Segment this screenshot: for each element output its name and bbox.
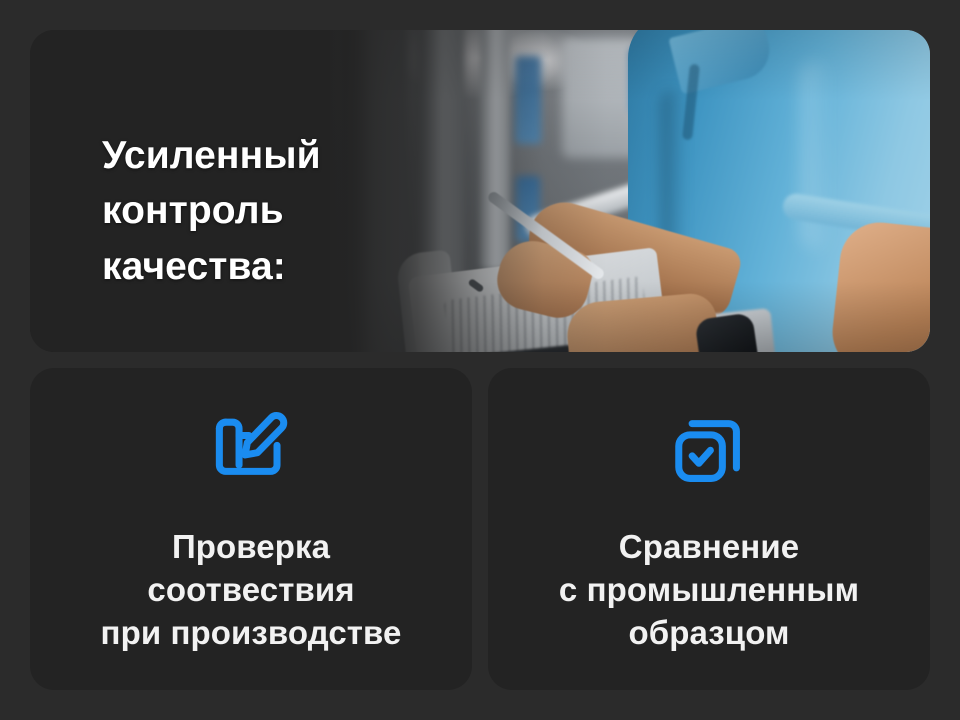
feature-card-compliance-check: Проверка соотвествия при производстве (30, 368, 472, 690)
feature-cards-row: Проверка соотвествия при производстве Ср… (30, 368, 930, 690)
feature-label: Сравнение с промышленным образцом (559, 526, 859, 655)
quality-control-infographic: Усиленный контроль качества: Проверка со… (0, 0, 960, 720)
feature-label: Проверка соотвествия при производстве (101, 526, 402, 655)
feature-card-sample-comparison: Сравнение с промышленным образцом (488, 368, 930, 690)
hero-title: Усиленный контроль качества: (102, 128, 402, 294)
duplicate-check-icon (664, 406, 754, 496)
hero-card: Усиленный контроль качества: (30, 30, 930, 352)
document-pencil-icon (206, 406, 296, 496)
